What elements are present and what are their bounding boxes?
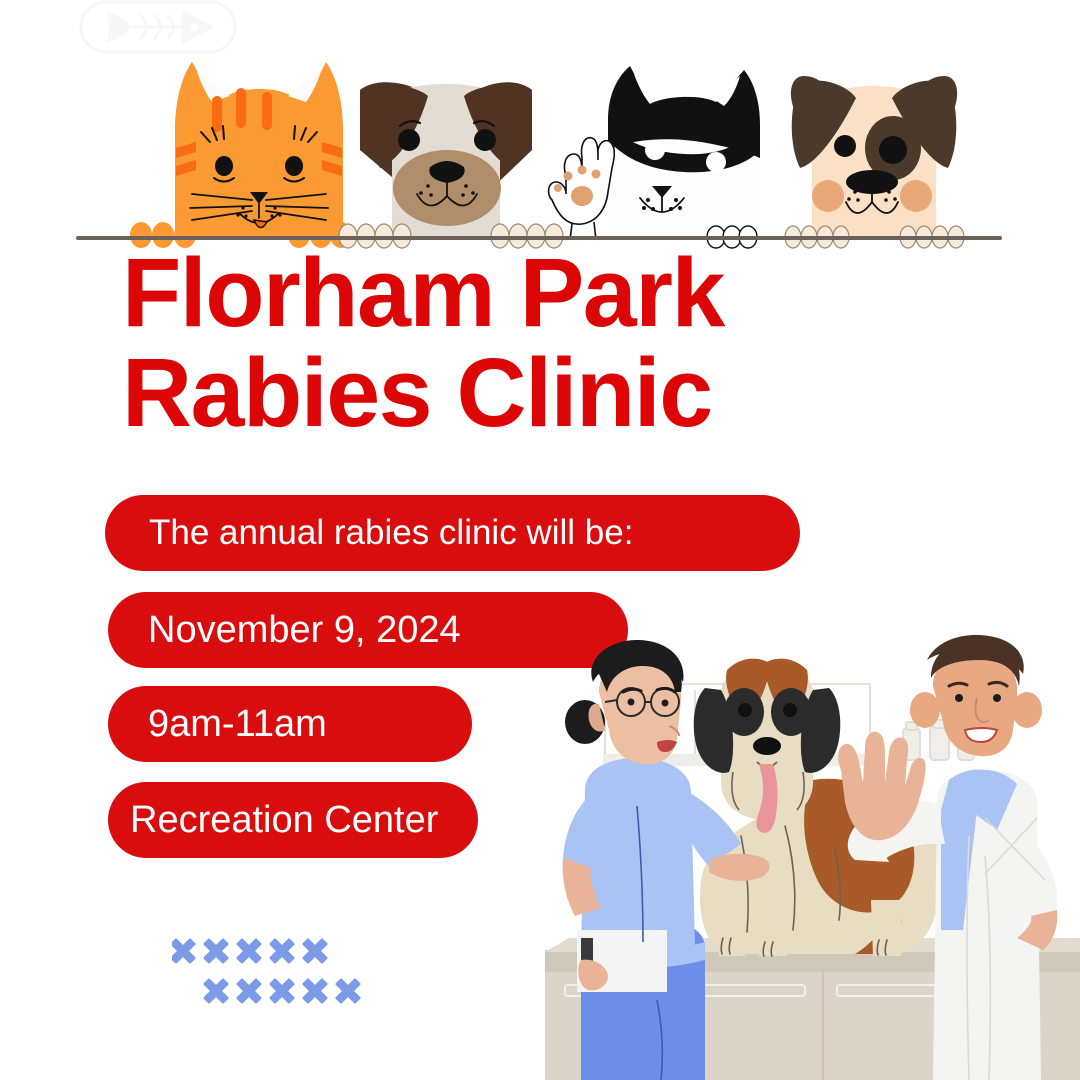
info-pill-time-label: 9am-11am bbox=[148, 703, 327, 746]
info-pill-time: 9am-11am bbox=[108, 686, 472, 762]
assistant-head bbox=[565, 640, 684, 764]
info-pill-location-label: Recreation Center bbox=[130, 799, 438, 842]
title-line-2: Rabies Clinic bbox=[122, 343, 902, 443]
x-marks-row-2 bbox=[205, 980, 359, 1002]
x-marks-row-1 bbox=[172, 940, 326, 962]
title-line-1: Florham Park bbox=[122, 243, 902, 343]
info-pill-date-label: November 9, 2024 bbox=[148, 609, 461, 652]
peeking-pets-illustration bbox=[0, 0, 1080, 250]
poster-title: Florham Park Rabies Clinic bbox=[122, 243, 902, 443]
info-pill-intro: The annual rabies clinic will be: bbox=[105, 495, 800, 571]
waving-paw-icon bbox=[549, 138, 615, 240]
poster-canvas: Florham Park Rabies Clinic The annual ra… bbox=[0, 0, 1080, 1080]
orange-tabby-cat-icon bbox=[130, 62, 352, 248]
black-white-cat-icon bbox=[549, 66, 760, 248]
info-pill-intro-label: The annual rabies clinic will be: bbox=[149, 513, 633, 553]
vet-clinic-illustration bbox=[545, 630, 1080, 1080]
cream-spotted-dog-icon bbox=[785, 76, 964, 248]
x-marks-decoration bbox=[172, 936, 372, 1016]
info-pill-location: Recreation Center bbox=[108, 782, 478, 858]
pug-dog-icon bbox=[339, 82, 563, 248]
